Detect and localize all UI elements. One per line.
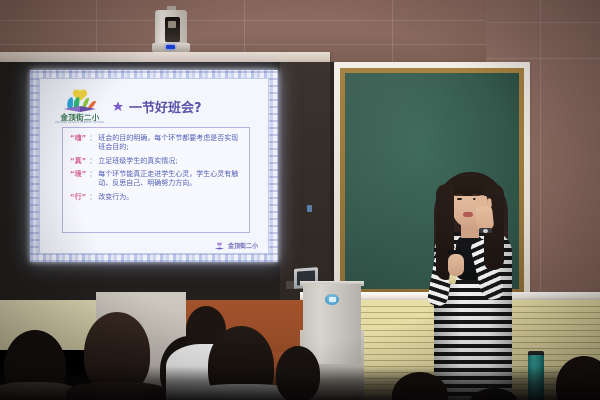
school-crest-icon [214,242,225,250]
slide-point-text: 立足班级学生的真实情况; [98,157,177,166]
projector-power-led-icon [166,45,175,49]
foreground-shadow [0,366,600,400]
presenter-raised-hand [475,203,495,231]
slide-content: 金顶街二小 JIN DING JIE NO.2 PRIMARY SCHOOL 一… [39,78,269,254]
slide-point-key: “真” [70,157,87,166]
presenter-brow-right [472,194,479,196]
slide-point: “境” ： 每个环节能真正走进学生心灵，学生心灵有触动、反思自己、明确努力方向。 [70,170,242,188]
slide-point-key: “行” [70,193,87,202]
slide-point-colon: ： [87,170,98,188]
school-logo-subtitle: JIN DING JIE NO.2 PRIMARY SCHOOL [54,121,106,124]
sliding-board-panel[interactable] [280,62,330,300]
school-logo-mark-icon [62,89,98,113]
slide-point-key: “魂” [70,134,87,152]
slide-point-colon: ： [87,193,98,202]
slide-point-colon: ： [87,134,98,152]
presenter-brow-left [456,194,463,196]
slide-title: 一节好班会? [129,97,202,116]
slide-point: “真” ： 立足班级学生的真实情况; [70,157,242,166]
projection-screen: 金顶街二小 JIN DING JIE NO.2 PRIMARY SCHOOL 一… [30,70,278,262]
slide-bullet-box: “魂” ： 班会的目的明确，每个环节都要考虑是否实现班会目的; “真” ： 立足… [62,127,250,233]
slide-point-text: 改变行为。 [98,193,133,202]
slide-point: “魂” ： 班会的目的明确，每个环节都要考虑是否实现班会目的; [70,134,242,152]
six-pointed-star-icon [112,101,124,113]
slide-point: “行” ： 改变行为。 [70,193,242,202]
projector-lens-icon [165,17,180,42]
presenter-hand-holding-mic [448,254,464,276]
slide-point-text: 每个环节能真正走进学生心灵，学生心灵有触动、反思自己、明确努力方向。 [98,170,242,188]
presenter-eye-left [457,198,462,200]
slide-point-text: 班会的目的明确，每个环节都要考虑是否实现班会目的; [98,134,242,152]
slide-footer: 金顶街二小 [214,241,258,250]
slide-title-row: 一节好班会? [112,97,202,116]
presenter-wristwatch [479,228,492,233]
projector [152,6,190,52]
presenter-mouth [463,212,473,217]
slide-footer-text: 金顶街二小 [228,241,258,250]
school-logo: 金顶街二小 JIN DING JIE NO.2 PRIMARY SCHOOL [54,89,106,129]
presenter-wristband [447,250,461,254]
panel-handle[interactable] [307,205,312,212]
slide-point-key: “境” [70,170,87,188]
classroom-scene: 金顶街二小 JIN DING JIE NO.2 PRIMARY SCHOOL 一… [0,0,600,400]
projector-body [155,10,187,46]
podium-badge-icon [325,294,339,305]
slide-point-colon: ： [87,157,98,166]
